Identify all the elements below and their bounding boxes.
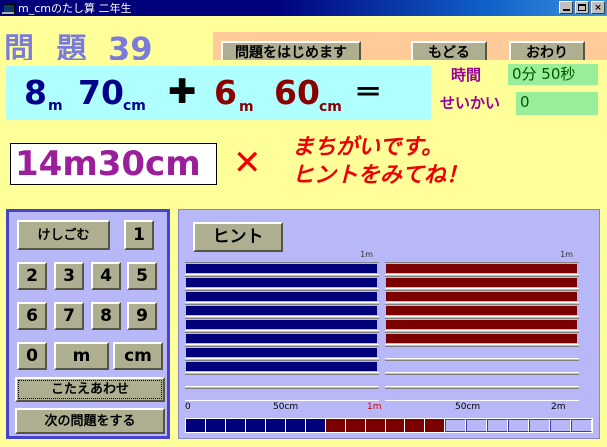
hint-panel: ヒント 1m 1m 050cm1m50cm2m xyxy=(178,209,600,439)
bar-fill xyxy=(386,264,577,273)
bar-tick-left: 1m xyxy=(360,250,373,259)
key-8[interactable]: 8 xyxy=(91,302,121,330)
bar-row xyxy=(185,290,379,303)
ruler-segment xyxy=(405,419,425,432)
term1-unit: m xyxy=(48,98,63,114)
bar-tick-right: 1m xyxy=(560,250,573,259)
key-4[interactable]: 4 xyxy=(91,262,121,290)
bar-row xyxy=(185,304,379,317)
window-titlebar: m_cmのたし算 二年生 × xyxy=(0,0,607,16)
bar-fill xyxy=(186,362,377,371)
bar-row xyxy=(385,290,579,303)
bar-row xyxy=(185,360,379,373)
time-value: 0分 50秒 xyxy=(508,64,598,85)
ruler-segment xyxy=(306,419,326,432)
ruler-segment xyxy=(529,419,550,432)
close-icon: × xyxy=(594,3,602,13)
bar-chart-second-addend: 1m xyxy=(385,262,579,402)
bar-fill xyxy=(186,348,377,357)
ruler-segment xyxy=(487,419,508,432)
answer-row: 14m30cm ✕ まちがいです。 ヒントをみてね！ xyxy=(0,130,607,202)
key-erase[interactable]: けしごむ xyxy=(17,220,110,250)
ruler-label: 2m xyxy=(551,402,566,412)
app-icon xyxy=(2,2,15,15)
bar-fill xyxy=(386,292,577,301)
bar-row xyxy=(185,318,379,331)
bar-fill xyxy=(386,362,577,371)
hint-button[interactable]: ヒント xyxy=(193,222,283,252)
time-label: 時間 xyxy=(451,66,481,84)
term1-value: 8 xyxy=(24,74,47,112)
bar-row xyxy=(385,318,579,331)
bar-fill xyxy=(186,390,377,399)
plus-operator: ✚ xyxy=(168,73,197,111)
keypad-panel: けしごむ 1 2 3 4 5 6 7 8 9 0 m cm こたえあわせ 次の問… xyxy=(6,209,170,439)
term4-value: 60 xyxy=(274,74,320,112)
maximize-button[interactable] xyxy=(575,1,589,14)
ruler-label: 1m xyxy=(367,402,382,412)
bar-row xyxy=(185,262,379,275)
ruler-segment xyxy=(246,419,266,432)
window-controls: × xyxy=(559,1,605,14)
bar-fill xyxy=(186,334,377,343)
bar-row xyxy=(385,304,579,317)
next-problem-button[interactable]: 次の問題をする xyxy=(15,408,165,434)
check-answer-button[interactable]: こたえあわせ xyxy=(15,377,165,402)
bar-fill xyxy=(386,306,577,315)
bar-fill xyxy=(386,320,577,329)
key-1[interactable]: 1 xyxy=(124,220,154,250)
key-7[interactable]: 7 xyxy=(54,302,84,330)
bar-row xyxy=(385,332,579,345)
bar-row xyxy=(385,374,579,387)
term3-unit: m xyxy=(239,99,254,115)
term2-unit: cm xyxy=(123,98,146,114)
correct-label: せいかい xyxy=(440,94,500,112)
equals-operator: ═ xyxy=(358,73,378,111)
bar-fill xyxy=(386,390,577,399)
equation-display: 8 m 70 cm ✚ 6 m 60 cm ═ xyxy=(6,66,431,120)
ruler-segment xyxy=(366,419,386,432)
bar-chart-first-addend: 1m xyxy=(185,262,379,402)
term2-value: 70 xyxy=(78,74,124,112)
feedback-line-2: ヒントをみてね！ xyxy=(292,162,468,190)
ruler-segment xyxy=(326,419,346,432)
bar-row xyxy=(385,276,579,289)
bar-fill xyxy=(186,320,377,329)
bar-row xyxy=(385,346,579,359)
bar-fill xyxy=(386,334,577,343)
wrong-mark-icon: ✕ xyxy=(233,143,262,183)
ruler-segment xyxy=(425,419,445,432)
key-2[interactable]: 2 xyxy=(17,262,47,290)
bar-fill xyxy=(386,278,577,287)
answer-input[interactable]: 14m30cm xyxy=(10,143,217,185)
ruler-segment xyxy=(286,419,306,432)
key-unit-cm[interactable]: cm xyxy=(113,342,163,370)
bar-row xyxy=(185,276,379,289)
bar-row xyxy=(185,332,379,345)
correct-value: 0 xyxy=(516,92,598,115)
ruler-segment xyxy=(266,419,286,432)
bar-fill xyxy=(186,264,377,273)
ruler-track xyxy=(185,418,593,433)
lower-area: けしごむ 1 2 3 4 5 6 7 8 9 0 m cm こたえあわせ 次の問… xyxy=(0,202,607,447)
ruler-label: 50cm xyxy=(273,402,298,412)
close-button[interactable]: × xyxy=(591,1,605,14)
window-title: m_cmのたし算 二年生 xyxy=(18,2,131,15)
bar-fill xyxy=(386,348,577,357)
term4-unit: cm xyxy=(319,99,342,115)
term3-value: 6 xyxy=(214,74,237,112)
score-panel: 時間 0分 50秒 せいかい 0 xyxy=(438,60,607,130)
header-band: 問 題 39 問題をはじめます もどる おわり xyxy=(0,16,607,60)
ruler-segment xyxy=(571,419,592,432)
answer-value: 14m30cm xyxy=(15,144,201,184)
key-3[interactable]: 3 xyxy=(54,262,84,290)
ruler-segment xyxy=(206,419,226,432)
bar-fill xyxy=(186,292,377,301)
key-unit-m[interactable]: m xyxy=(54,342,109,370)
bar-row xyxy=(185,374,379,387)
ruler-label: 0 xyxy=(185,402,191,412)
ruler-label: 50cm xyxy=(455,402,480,412)
feedback-message: まちがいです。 ヒントをみてね！ xyxy=(292,134,468,190)
key-5[interactable]: 5 xyxy=(127,262,157,290)
ruler-scale: 050cm1m50cm2m xyxy=(185,402,597,436)
bar-fill xyxy=(186,306,377,315)
ruler-segment xyxy=(346,419,366,432)
bar-row xyxy=(185,346,379,359)
bar-fill xyxy=(186,278,377,287)
ruler-segment xyxy=(445,419,466,432)
ruler-segment xyxy=(226,419,246,432)
ruler-segment xyxy=(186,419,206,432)
key-9[interactable]: 9 xyxy=(127,302,157,330)
feedback-line-1: まちがいです。 xyxy=(292,135,443,160)
bar-row xyxy=(385,262,579,275)
ruler-segment xyxy=(466,419,487,432)
minimize-button[interactable] xyxy=(559,1,573,14)
key-6[interactable]: 6 xyxy=(17,302,47,330)
bar-fill xyxy=(386,376,577,385)
ruler-segment xyxy=(550,419,571,432)
bar-row xyxy=(385,360,579,373)
ruler-segment xyxy=(508,419,529,432)
bar-row xyxy=(185,388,379,401)
bar-fill xyxy=(186,376,377,385)
ruler-segment xyxy=(386,419,406,432)
bar-row xyxy=(385,388,579,401)
key-0[interactable]: 0 xyxy=(17,342,47,370)
